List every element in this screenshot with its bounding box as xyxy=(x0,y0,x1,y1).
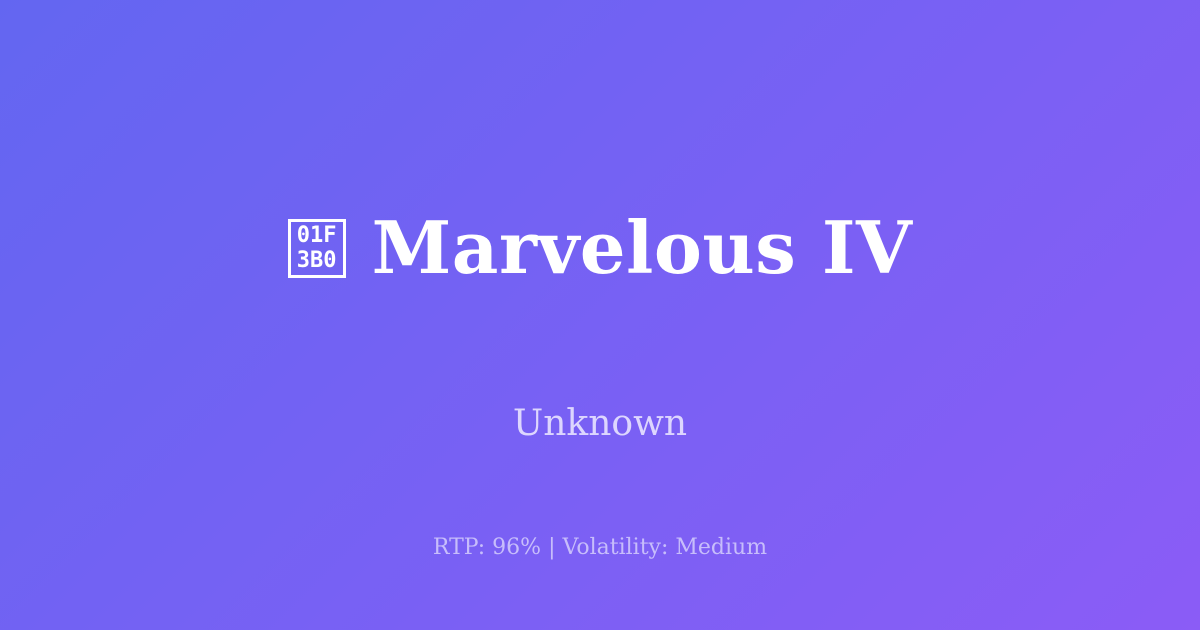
slot-machine-icon: 01F 3B0 xyxy=(288,219,346,278)
title-row: 01F 3B0 Marvelous IV xyxy=(288,160,913,336)
page-subtitle: Unknown xyxy=(513,402,687,446)
page-title: Marvelous IV xyxy=(372,208,913,288)
game-preview-card: 01F 3B0 Marvelous IV Unknown RTP: 96% | … xyxy=(0,0,1200,630)
tofu-codepoint-top: 01F xyxy=(297,223,337,248)
game-meta-footer: RTP: 96% | Volatility: Medium xyxy=(0,534,1200,562)
tofu-codepoint-bottom: 3B0 xyxy=(297,248,337,273)
